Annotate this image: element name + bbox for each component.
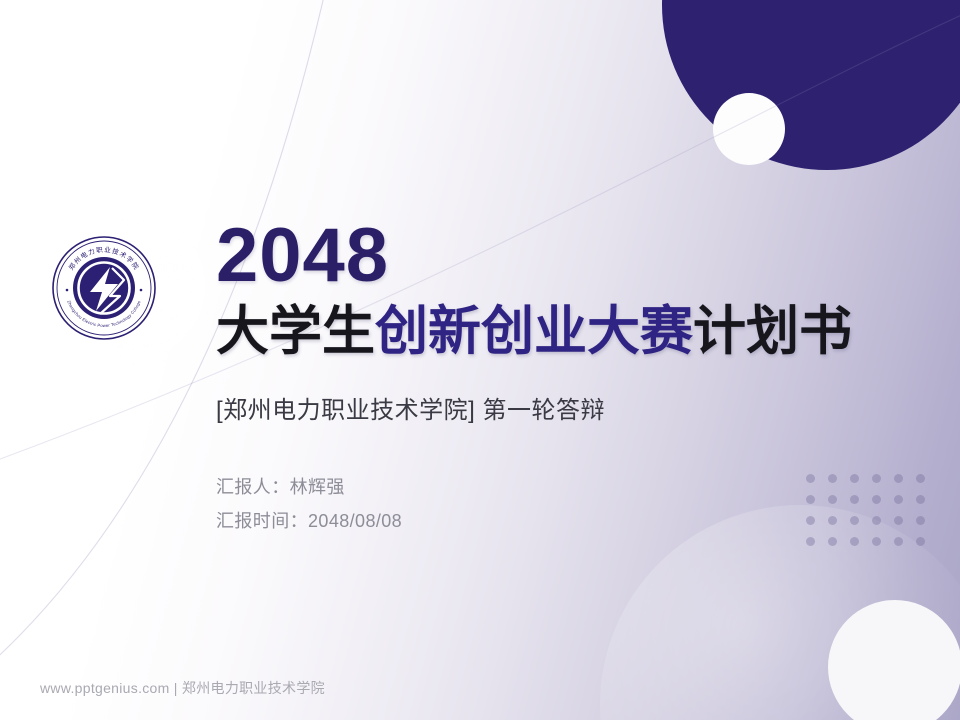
headline-part-3: 计划书 [693, 302, 852, 361]
presenter-line: 汇报人：林辉强 [216, 473, 916, 499]
subtitle: [郑州电力职业技术学院] 第一轮答辩 [216, 390, 916, 425]
footer-credit: www.pptgenius.com | 郑州电力职业技术学院 [40, 678, 325, 698]
university-logo: 郑州电力职业技术学院 Zhengzhou Electric Power Tech… [50, 234, 158, 342]
decorative-circle-white-top-right [713, 93, 785, 165]
headline-part-1: 大学生 [216, 302, 375, 361]
headline-part-2: 创新创业大赛 [375, 302, 693, 361]
decorative-circle-white-bottom-right [828, 600, 960, 720]
university-emblem-icon: 郑州电力职业技术学院 Zhengzhou Electric Power Tech… [50, 234, 158, 342]
year-title: 2048 [216, 218, 916, 294]
presentation-title-slide: 郑州电力职业技术学院 Zhengzhou Electric Power Tech… [0, 0, 960, 720]
decorative-circle-indigo-top-right [662, 0, 960, 170]
date-line: 汇报时间：2048/08/08 [216, 507, 916, 533]
main-headline: 大学生创新创业大赛计划书 [216, 304, 916, 360]
presentation-meta: 汇报人：林辉强 汇报时间：2048/08/08 [216, 473, 916, 533]
title-content: 2048 大学生创新创业大赛计划书 [郑州电力职业技术学院] 第一轮答辩 汇报人… [216, 218, 916, 541]
